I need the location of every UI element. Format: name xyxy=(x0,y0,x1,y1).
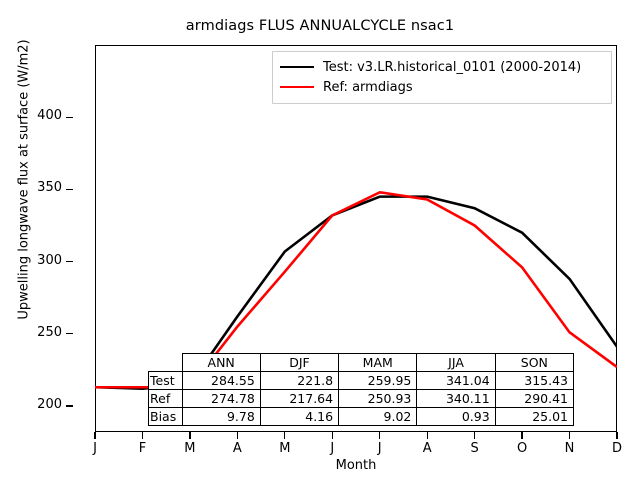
table-column-header: DJF xyxy=(260,354,338,372)
y-axis-label: Upwelling longwave flux at surface (W/m2… xyxy=(17,10,32,350)
table-column-header: ANN xyxy=(182,354,260,372)
y-tick-label: 300 xyxy=(37,253,62,268)
table-cell: 340.11 xyxy=(417,390,495,408)
table-row-label: Test xyxy=(149,372,183,390)
legend-color-swatch xyxy=(280,66,314,69)
table-column-header: JJA xyxy=(417,354,495,372)
legend-label: Test: v3.LR.historical_0101 (2000-2014) xyxy=(323,60,581,75)
table-column-header: MAM xyxy=(339,354,417,372)
x-tick-label: A xyxy=(405,441,449,456)
x-tick-label: F xyxy=(120,441,164,456)
table-cell: 221.8 xyxy=(260,372,338,390)
y-tick-mark xyxy=(66,405,73,406)
x-tick-label: N xyxy=(548,441,592,456)
legend-color-swatch xyxy=(280,86,314,89)
legend-entry: Ref: armdiags xyxy=(280,77,604,97)
x-tick-mark xyxy=(427,432,428,439)
table-row: Ref274.78217.64250.93340.11290.41 xyxy=(149,390,574,408)
table-cell: 290.41 xyxy=(495,390,573,408)
x-axis-label: Month xyxy=(95,458,617,473)
x-tick-label: M xyxy=(263,441,307,456)
x-tick-label: D xyxy=(595,441,639,456)
table-column-header: SON xyxy=(495,354,573,372)
x-tick-label: O xyxy=(500,441,544,456)
x-tick-mark xyxy=(142,432,143,439)
x-tick-mark xyxy=(379,432,380,439)
x-tick-mark xyxy=(521,432,522,439)
table-cell: 217.64 xyxy=(260,390,338,408)
legend: Test: v3.LR.historical_0101 (2000-2014)R… xyxy=(272,51,612,104)
y-tick-mark xyxy=(66,333,73,334)
table-cell: 284.55 xyxy=(182,372,260,390)
legend-label: Ref: armdiags xyxy=(323,80,413,95)
table-cell: 259.95 xyxy=(339,372,417,390)
y-tick-label: 200 xyxy=(37,397,62,412)
x-tick-label: J xyxy=(73,441,117,456)
x-tick-label: S xyxy=(453,441,497,456)
table-cell: 25.01 xyxy=(495,408,573,426)
table-corner-cell xyxy=(149,354,183,372)
x-tick-mark xyxy=(94,432,95,439)
chart-figure: armdiags FLUS ANNUALCYCLE nsac1 Upwellin… xyxy=(0,0,640,480)
x-tick-mark xyxy=(189,432,190,439)
table-cell: 9.78 xyxy=(182,408,260,426)
table-header-row: ANNDJFMAMJJASON xyxy=(149,354,574,372)
chart-title: armdiags FLUS ANNUALCYCLE nsac1 xyxy=(0,18,640,34)
y-tick-mark xyxy=(66,261,73,262)
statistics-table: ANNDJFMAMJJASONTest284.55221.8259.95341.… xyxy=(148,353,574,426)
y-tick-label: 250 xyxy=(37,325,62,340)
y-tick-mark xyxy=(66,189,73,190)
legend-entry: Test: v3.LR.historical_0101 (2000-2014) xyxy=(280,57,604,77)
x-tick-mark xyxy=(332,432,333,439)
table-cell: 315.43 xyxy=(495,372,573,390)
table-cell: 274.78 xyxy=(182,390,260,408)
x-tick-mark xyxy=(616,432,617,439)
table-cell: 9.02 xyxy=(339,408,417,426)
table-row-label: Bias xyxy=(149,408,183,426)
x-tick-label: J xyxy=(358,441,402,456)
x-tick-label: J xyxy=(310,441,354,456)
table-cell: 341.04 xyxy=(417,372,495,390)
table-row-label: Ref xyxy=(149,390,183,408)
x-tick-mark xyxy=(237,432,238,439)
x-tick-label: A xyxy=(215,441,259,456)
table-cell: 0.93 xyxy=(417,408,495,426)
x-tick-mark xyxy=(474,432,475,439)
table-cell: 250.93 xyxy=(339,390,417,408)
y-tick-label: 350 xyxy=(37,180,62,195)
y-tick-label: 400 xyxy=(37,108,62,123)
table-row: Bias9.784.169.020.9325.01 xyxy=(149,408,574,426)
table-cell: 4.16 xyxy=(260,408,338,426)
table-row: Test284.55221.8259.95341.04315.43 xyxy=(149,372,574,390)
x-tick-mark xyxy=(284,432,285,439)
x-tick-mark xyxy=(569,432,570,439)
y-tick-mark xyxy=(66,117,73,118)
x-tick-label: M xyxy=(168,441,212,456)
